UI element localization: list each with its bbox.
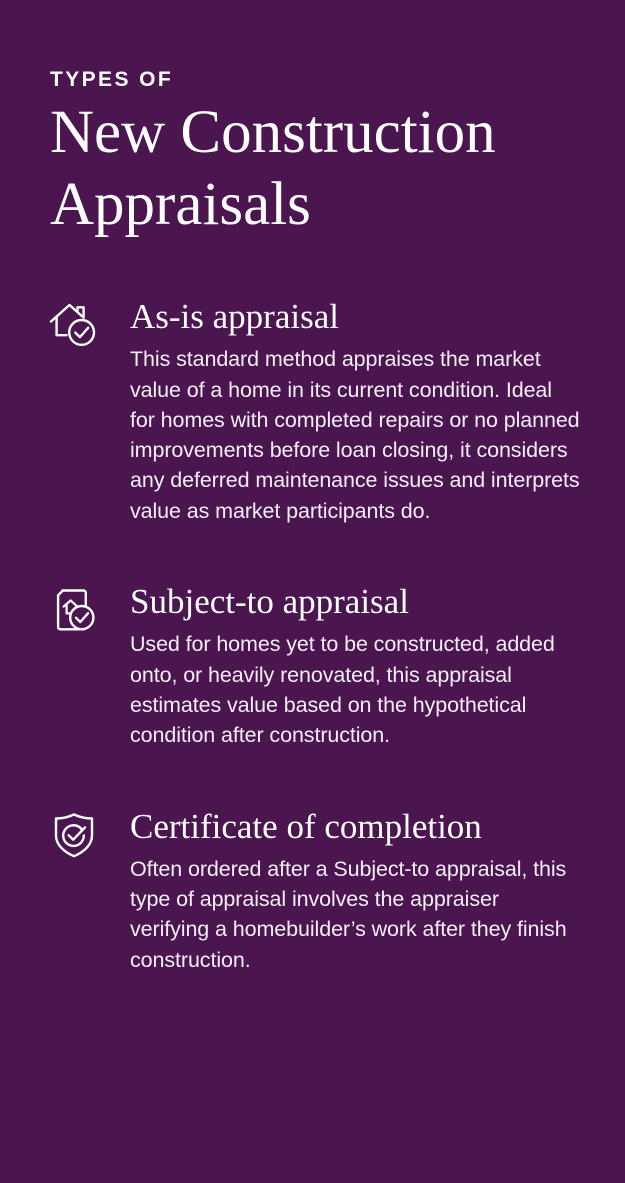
document-house-check-icon [48, 584, 100, 636]
section-subject-to-appraisal: Subject-to appraisal Used for homes yet … [0, 582, 625, 750]
section-certificate-of-completion: Certificate of completion Often ordered … [0, 807, 625, 975]
eyebrow-label: TYPES OF [50, 68, 585, 91]
section-body: Often ordered after a Subject-to apprais… [130, 854, 581, 975]
page-title-line-2: Appraisals [50, 169, 585, 241]
page-title: New Construction Appraisals [50, 97, 585, 241]
section-body: This standard method appraises the marke… [130, 344, 581, 526]
section-body: Used for homes yet to be constructed, ad… [130, 629, 581, 750]
section-heading: Certificate of completion [130, 807, 581, 846]
section-heading: As-is appraisal [130, 297, 581, 336]
title-block: TYPES OF New Construction Appraisals [0, 0, 625, 241]
page-title-line-1: New Construction [50, 97, 585, 169]
section-as-is-appraisal: As-is appraisal This standard method app… [0, 297, 625, 526]
shield-check-icon [48, 809, 100, 861]
section-heading: Subject-to appraisal [130, 582, 581, 621]
infographic-card: TYPES OF New Construction Appraisals As-… [0, 0, 625, 1183]
house-check-icon [48, 299, 100, 351]
sections-list: As-is appraisal This standard method app… [0, 297, 625, 975]
